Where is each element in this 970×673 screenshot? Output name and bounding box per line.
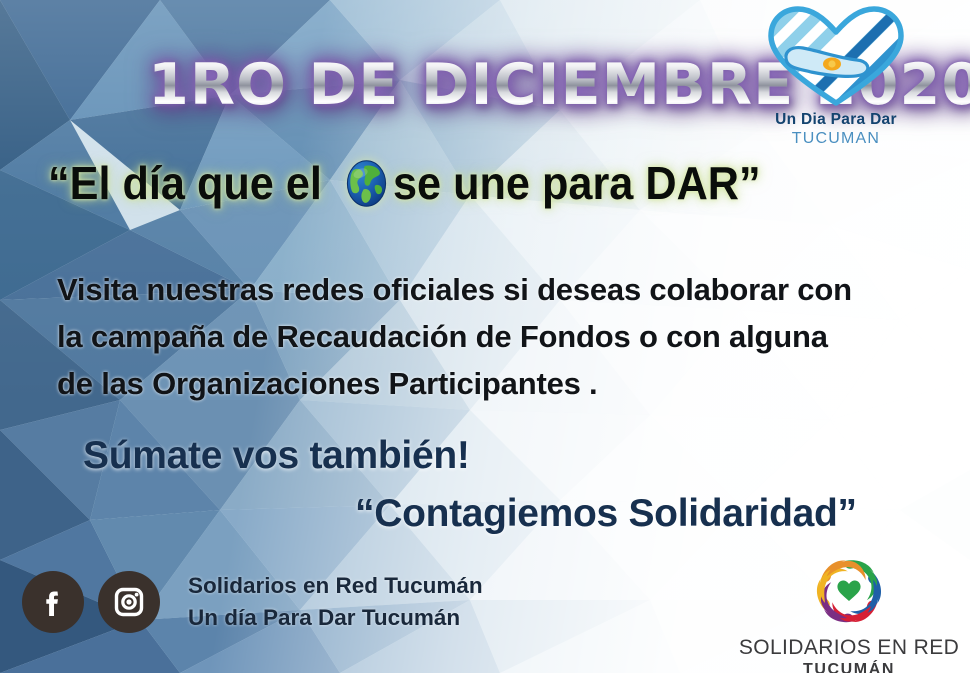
globe-americas-icon [343, 160, 390, 207]
un-dia-para-dar-logo-line1: Un Dia Para Dar [748, 111, 924, 129]
solidarios-en-red-swirl-heart-icon [803, 552, 895, 634]
un-dia-para-dar-logo: Un Dia Para Dar TUCUMAN [748, 2, 924, 148]
social-account-name: Un día Para Dar Tucumán [188, 602, 483, 634]
social-account-names: Solidarios en Red Tucumán Un día Para Da… [188, 570, 483, 634]
body-line: Visita nuestras redes oficiales si desea… [57, 266, 917, 313]
facebook-button[interactable] [22, 571, 84, 633]
poster-canvas: 1RO DE DICIEMBRE 2020 “El día que el se … [0, 0, 970, 673]
social-links: Solidarios en Red Tucumán Un día Para Da… [22, 570, 483, 634]
un-dia-para-dar-logo-line2: TUCUMAN [748, 130, 924, 148]
tagline-quote-part2: se une para DAR” [393, 156, 761, 210]
striped-heart-hands-icon [761, 2, 911, 110]
body-line: la campaña de Recaudación de Fondos o co… [57, 313, 917, 360]
facebook-icon [36, 585, 70, 619]
slogan-secondary: “Contagiemos Solidaridad” [355, 492, 857, 536]
solidarios-en-red-logo: SOLIDARIOS EN RED TUCUMÁN [729, 552, 969, 673]
instagram-icon [111, 584, 147, 620]
solidarios-en-red-logo-line2: TUCUMÁN [729, 661, 969, 673]
body-paragraph: Visita nuestras redes oficiales si desea… [57, 266, 917, 407]
social-account-name: Solidarios en Red Tucumán [188, 570, 483, 602]
tagline-quote: “El día que el se une para DAR” [48, 156, 785, 210]
solidarios-en-red-logo-line1: SOLIDARIOS EN RED [729, 636, 969, 660]
instagram-button[interactable] [98, 571, 160, 633]
tagline-quote-part1: “El día que el [48, 156, 322, 210]
body-line: de las Organizaciones Participantes . [57, 360, 917, 407]
slogan-primary: Súmate vos también! [83, 434, 470, 478]
